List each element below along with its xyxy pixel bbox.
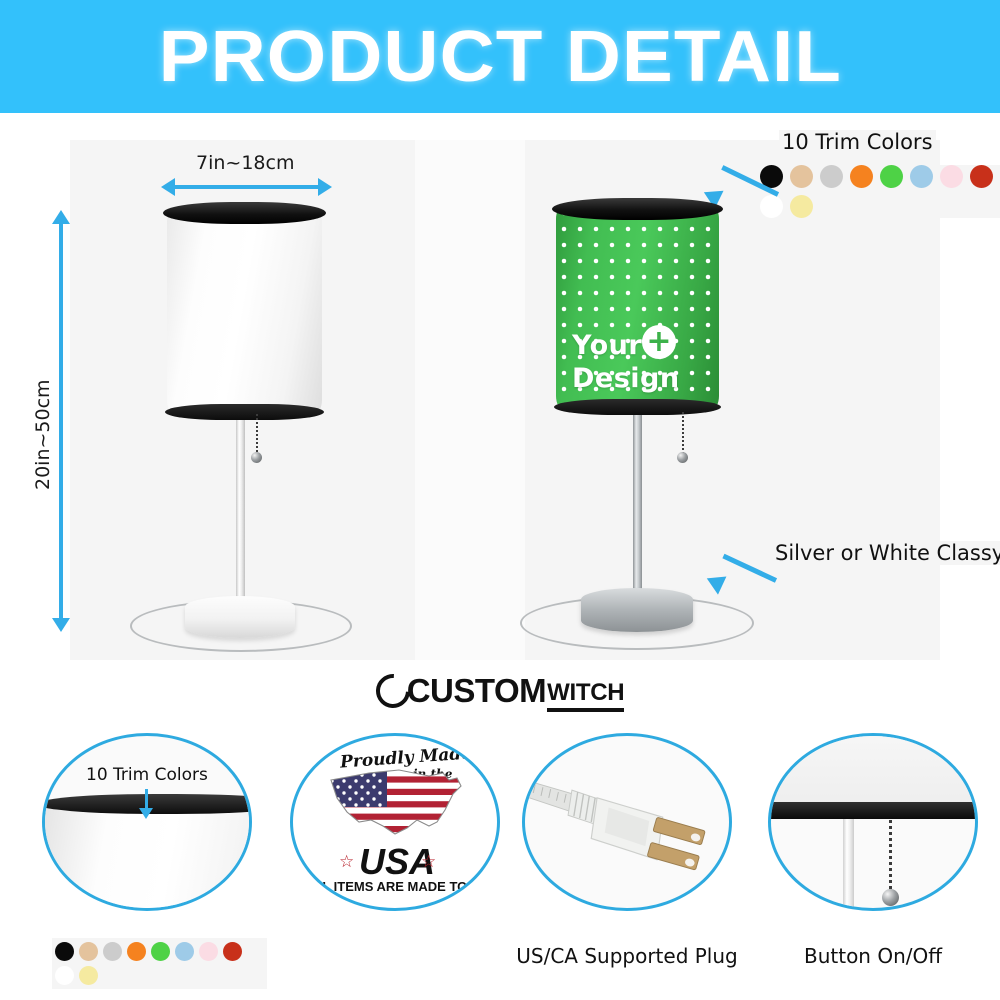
detail-swatch-yellow[interactable] — [79, 966, 98, 985]
pull-chain-silver[interactable] — [682, 412, 684, 456]
usa-star-right-icon: ☆ — [421, 852, 436, 872]
trim-swatch-green[interactable] — [880, 165, 903, 188]
trim-swatch-yellow[interactable] — [790, 195, 813, 218]
brand-logo: CUSTOM WITCH — [0, 668, 1000, 714]
width-dimension-label: 7in~18cm — [192, 152, 298, 174]
trim-swatch-white[interactable] — [760, 195, 783, 218]
detail-circle-trim-colors — [42, 733, 252, 911]
detail-swatch-black[interactable] — [55, 942, 74, 961]
detail-trim-swatches — [52, 938, 267, 989]
lamp-shade-white — [167, 208, 322, 414]
detail-circle-plug — [522, 733, 732, 911]
height-dimension-line — [59, 222, 63, 620]
power-plug-icon — [525, 736, 729, 908]
detail-trim-colors-label: 10 Trim Colors — [83, 765, 211, 785]
usa-badge-footer: ALL ITEMS ARE MADE TO ORDER! — [305, 879, 500, 894]
detail-pull-chain[interactable] — [889, 820, 892, 892]
trim-swatch-tan[interactable] — [790, 165, 813, 188]
detail-swatch-gray[interactable] — [103, 942, 122, 961]
trim-swatch-orange[interactable] — [850, 165, 873, 188]
page-title: PRODUCT DETAIL — [158, 16, 841, 98]
trim-swatch-light-blue[interactable] — [910, 165, 933, 188]
base-finish-label: Silver or White Classy — [772, 541, 1000, 565]
detail-swatch-white[interactable] — [55, 966, 74, 985]
logo-secondary-text: WITCH — [547, 679, 624, 712]
width-arrow-left-head — [161, 178, 175, 196]
height-arrow-bottom-head — [52, 618, 70, 632]
lamp-shade-green: Your + Design — [556, 205, 719, 410]
pull-chain-ball-silver[interactable] — [677, 452, 688, 463]
trim-swatch-red[interactable] — [970, 165, 993, 188]
detail-shade-trim-bottom — [768, 802, 978, 819]
button-caption: Button On/Off — [766, 944, 980, 968]
shade-trim-bottom-white — [165, 404, 324, 420]
height-dimension-label: 20in~50cm — [32, 379, 54, 490]
detail-circle-made-in-usa: Proudly Made in the — [290, 733, 500, 911]
width-arrow-right-head — [318, 178, 332, 196]
shade-trim-top-white — [163, 202, 326, 224]
detail-swatch-tan[interactable] — [79, 942, 98, 961]
trim-colors-top-swatches — [760, 165, 1000, 218]
detail-swatch-pink[interactable] — [199, 942, 218, 961]
shade-surface-white — [167, 208, 322, 414]
trim-swatch-pink[interactable] — [940, 165, 963, 188]
detail-swatch-red[interactable] — [223, 942, 242, 961]
lamp-base-white — [185, 596, 295, 638]
design-text-line1: Your — [572, 330, 642, 361]
trim-swatch-gray[interactable] — [820, 165, 843, 188]
detail-shade-bottom — [768, 733, 978, 806]
trim-colors-top-label: 10 Trim Colors — [779, 130, 936, 154]
plug-caption: US/CA Supported Plug — [500, 944, 754, 968]
lamp-pole-silver — [633, 410, 642, 610]
lamp-pole-white — [236, 405, 245, 620]
detail-pull-chain-ball[interactable] — [882, 889, 899, 906]
detail-circle-button — [768, 733, 978, 911]
panel-divider — [415, 140, 525, 660]
detail-trim-arrow-head — [139, 808, 153, 819]
product-detail-page: PRODUCT DETAIL 7in~18cm 20in~50cm — [0, 0, 1000, 1000]
add-design-plus-icon[interactable]: + — [642, 325, 676, 359]
lamp-base-silver — [581, 588, 693, 632]
detail-swatch-green[interactable] — [151, 942, 170, 961]
shade-trim-top-green — [552, 198, 723, 220]
pull-chain-ball-white[interactable] — [251, 452, 262, 463]
shade-trim-bottom-green — [554, 399, 721, 415]
usa-map-icon — [325, 764, 473, 844]
header-banner: PRODUCT DETAIL — [0, 0, 1000, 113]
width-dimension-line — [172, 185, 318, 189]
design-text-line2: Design — [572, 363, 680, 394]
logo-primary-text: CUSTOM — [407, 672, 546, 710]
height-arrow-top-head — [52, 210, 70, 224]
usa-star-left-icon: ☆ — [339, 852, 354, 872]
detail-lamp-pole — [843, 819, 854, 911]
pull-chain-white[interactable] — [256, 414, 258, 456]
detail-swatch-light-blue[interactable] — [175, 942, 194, 961]
detail-swatch-orange[interactable] — [127, 942, 146, 961]
